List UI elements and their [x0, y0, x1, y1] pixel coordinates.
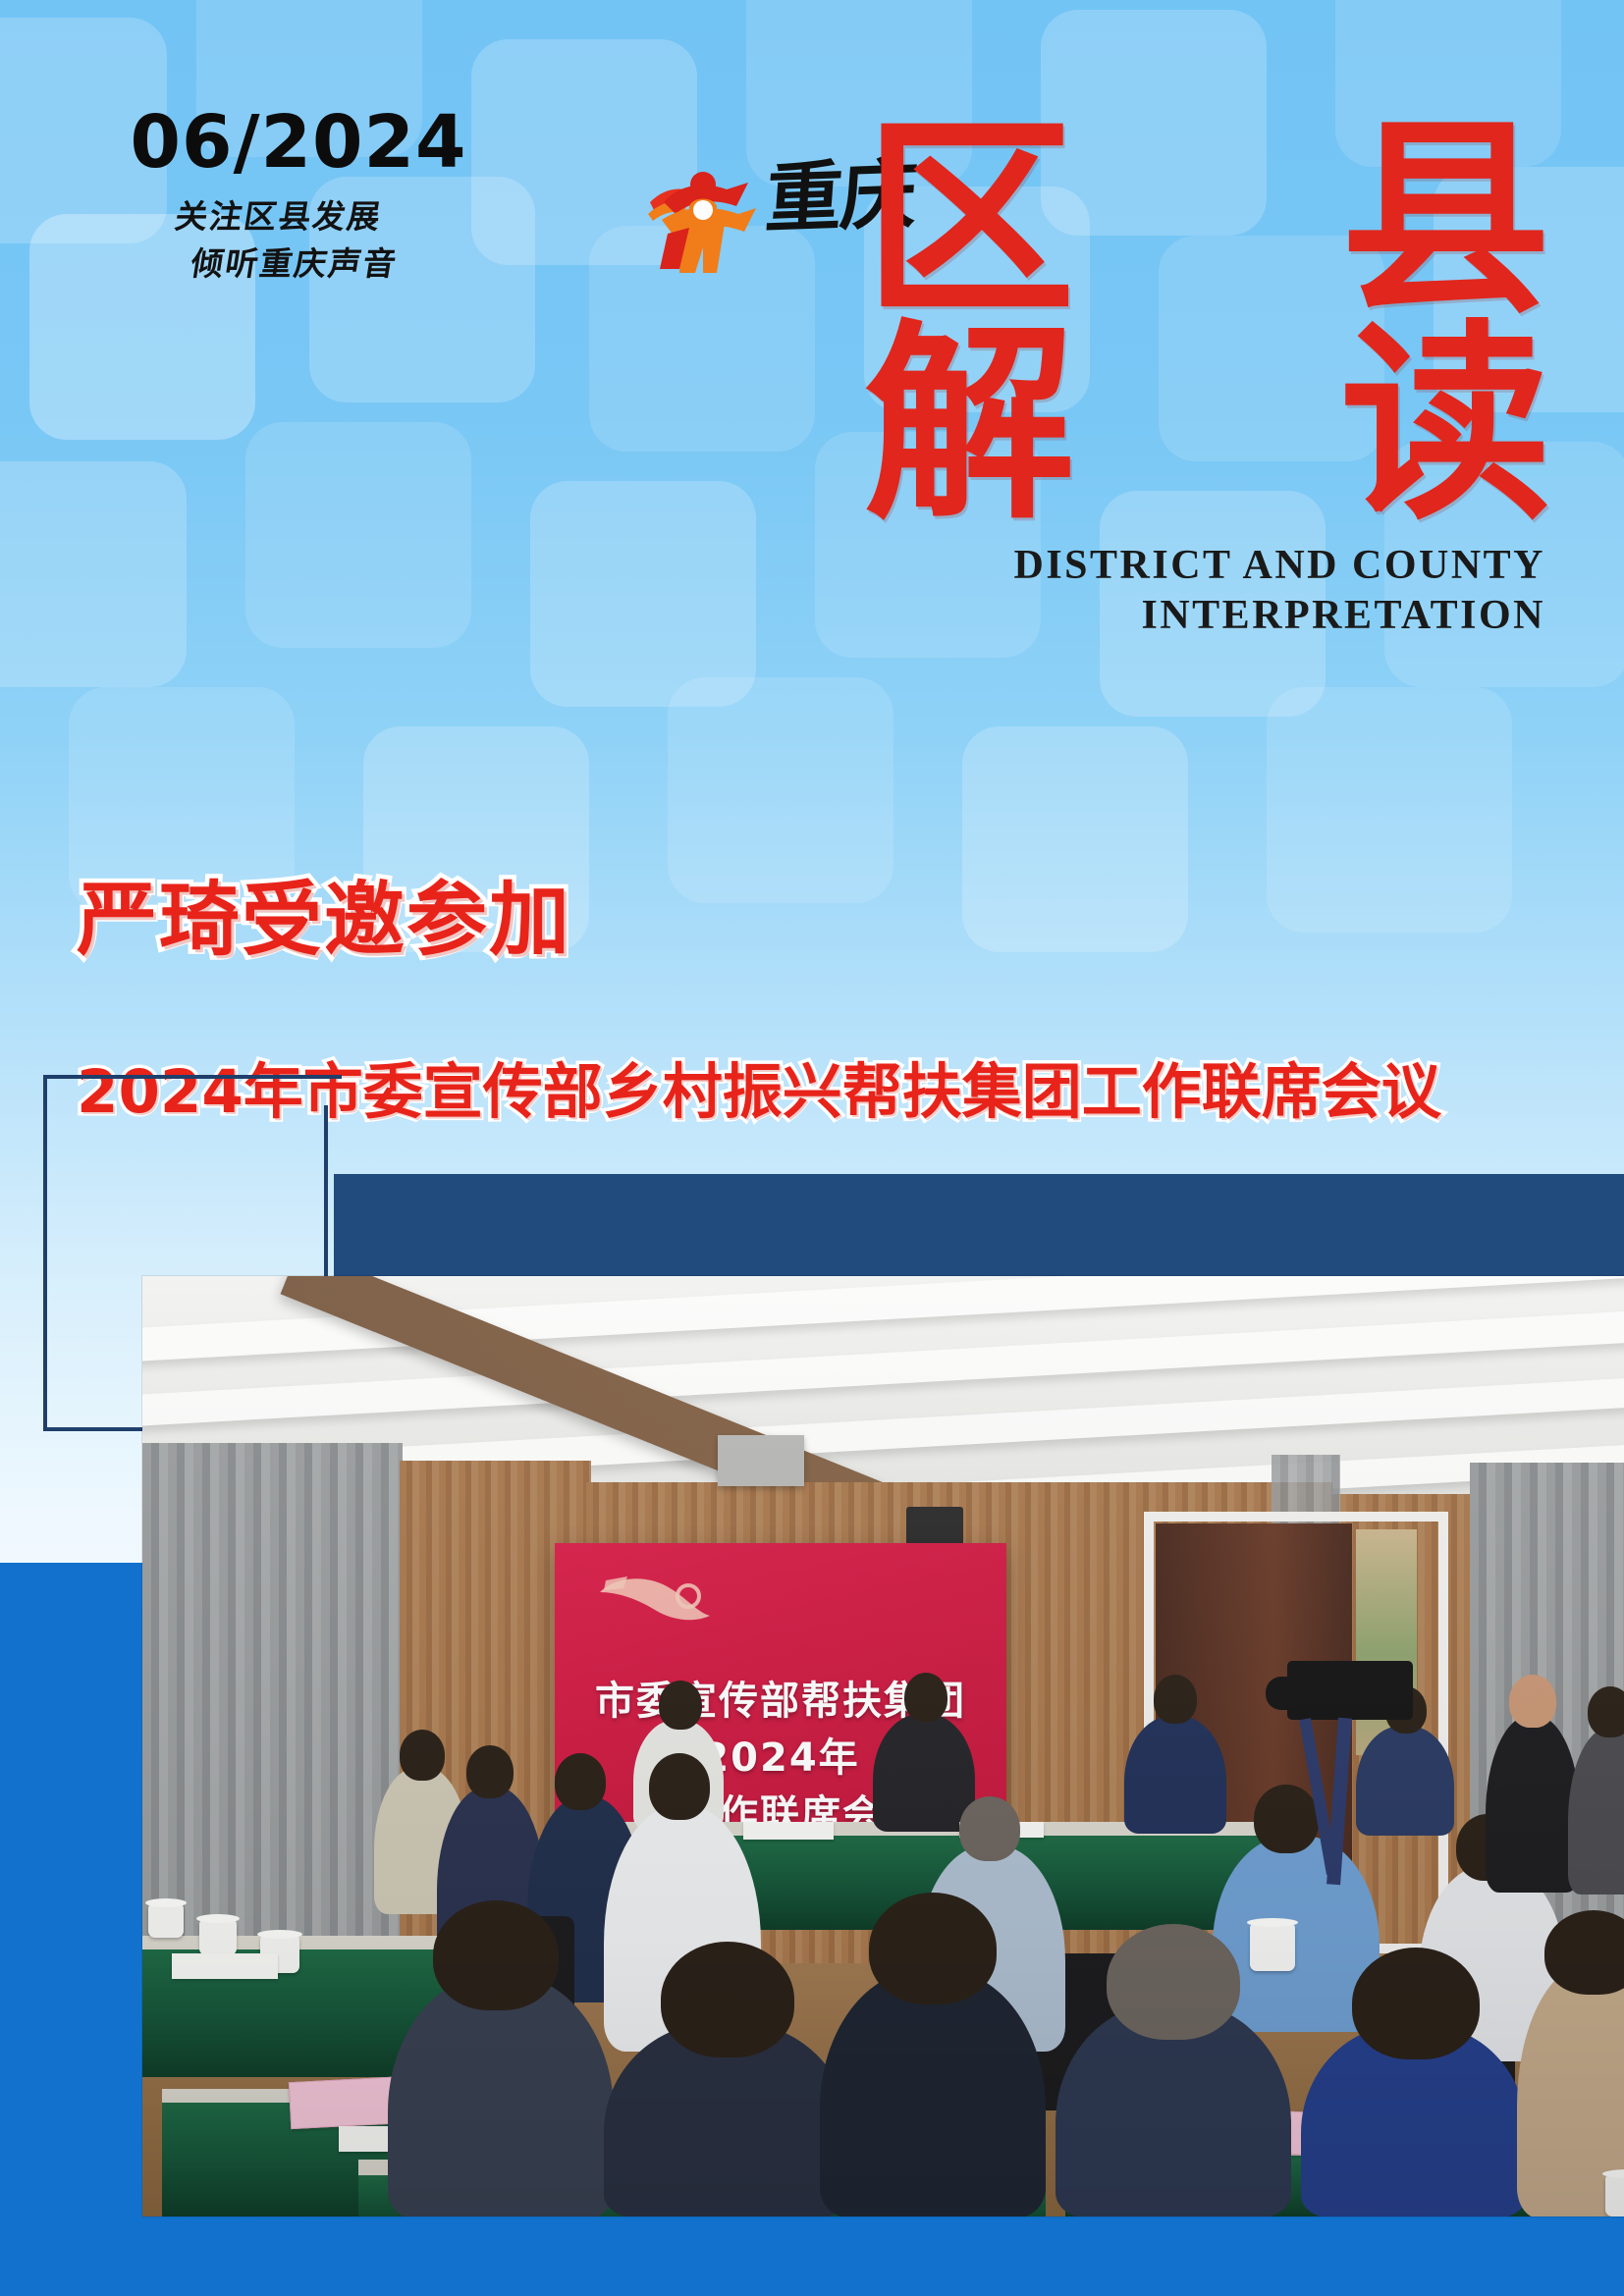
photo-document [743, 1822, 834, 1840]
photo-screen-emblem-icon [594, 1567, 722, 1628]
masthead-english: DISTRICT AND COUNTY INTERPRETATION [864, 541, 1551, 641]
slogan-left: 关注区县发展 [172, 190, 386, 238]
masthead: 区 县 解 读 DISTRICT AND COUNTY INTERPRETATI… [864, 118, 1551, 642]
photo-attendee-head [466, 1745, 514, 1798]
photo-teacup [148, 1904, 184, 1938]
photo-attendee-head [433, 1900, 559, 2010]
masthead-line-2: 解 读 [864, 323, 1551, 528]
masthead-line-1: 区 县 [864, 118, 1551, 323]
issue-block: 06/2024 关注区县发展 倾听重庆声音 [73, 106, 524, 285]
conference-photo: 市委宣传部帮扶集团2024年 工作联席会 [142, 1276, 1624, 2216]
photo-attendee [1124, 1716, 1226, 1834]
masthead-english-line-2: INTERPRETATION [864, 591, 1545, 641]
photo-teacup [199, 1920, 237, 1955]
photo-attendee-head [1509, 1675, 1556, 1728]
photo-teacup [1605, 2175, 1624, 2216]
masthead-char-du: 读 [1340, 323, 1551, 528]
magazine-cover-poster: 06/2024 关注区县发展 倾听重庆声音 重庆 区 县 解 读 [0, 0, 1624, 2296]
masthead-char-xian: 县 [1340, 118, 1551, 323]
masthead-english-line-1: DISTRICT AND COUNTY [864, 541, 1545, 591]
chongqing-person-mark-icon [646, 163, 764, 273]
photo-attendee-head [1352, 1948, 1480, 2059]
photo-attendee-head [904, 1673, 947, 1722]
photo-attendee [873, 1714, 975, 1832]
slogan-right: 倾听重庆声音 [188, 238, 402, 285]
photo-attendee-head [400, 1730, 445, 1781]
photo-attendee-head [1588, 1686, 1624, 1737]
photo-teacup [1250, 1924, 1295, 1971]
photo-attendee-head [1154, 1675, 1197, 1724]
photo-attendee-head [869, 1893, 997, 2004]
photo-attendee [820, 1969, 1046, 2216]
photo-document [172, 1953, 278, 1979]
article-headline: 严琦受邀参加 [77, 854, 571, 971]
photo-attendee-head [1107, 1924, 1240, 2040]
issue-number: 06/2024 [73, 106, 524, 179]
navy-band [334, 1174, 1624, 1284]
photo-attendee-head [555, 1753, 606, 1810]
issue-slogan: 关注区县发展 倾听重庆声音 [65, 190, 531, 285]
photo-attendee-head [661, 1942, 794, 2057]
photo-video-camera [1287, 1661, 1413, 1720]
masthead-char-jie: 解 [864, 323, 1075, 528]
photo-attendee [1486, 1716, 1580, 1893]
photo-attendee [1356, 1726, 1454, 1836]
photo-attendee-head [649, 1753, 710, 1820]
photo-attendee-head [1254, 1785, 1319, 1853]
photo-attendee-head [959, 1796, 1020, 1861]
masthead-char-qu: 区 [864, 118, 1075, 323]
photo-attendee [388, 1975, 614, 2216]
photo-attendee-head [659, 1681, 702, 1730]
photo-projector [718, 1435, 804, 1486]
photo-camera-lens [1266, 1677, 1305, 1710]
